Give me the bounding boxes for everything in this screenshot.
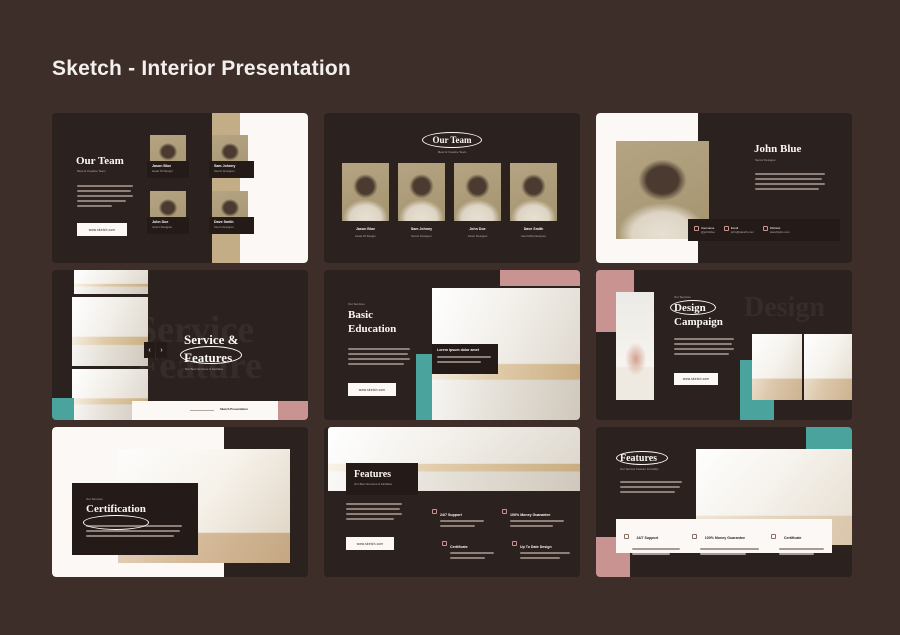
wallet-icon [502,509,507,514]
presentation-preview-board: Sketch - Interior Presentation Our Team … [0,0,900,635]
footer-note: Sketch Presentation [220,407,248,411]
member-role: Intern Designer [214,225,254,229]
member-name: Sam Johnny [214,164,254,168]
ghost-text: Design [744,292,825,324]
member-role: Junior Designer [454,234,501,238]
body-text [755,173,825,193]
user-icon [694,226,699,231]
feature-item[interactable]: Certificate [771,526,824,546]
member-label-card: Dave Smith Intern Designer [209,217,254,234]
member-name: Dave Smith [506,227,561,231]
body-text [346,503,402,523]
overlay-card: Lorem ipsum dolor amet [432,344,498,374]
member-role: Junior Designer [152,225,189,229]
member-name: Jason Blue [152,164,189,168]
member-label-card: Sam Johnny Senior Designer [209,161,254,178]
title-ellipse [422,132,482,148]
slide-photo [752,334,802,400]
member-name: Jason Blue [342,227,389,231]
slide-our-team-centered[interactable]: Our Team Meet & Creative Team Jason Blue… [324,113,580,263]
slide-certification[interactable]: Our Services Certification [52,427,308,577]
slide-subtitle: Meet & Creative Team [77,169,106,173]
slide-subtitle: Our Best Services & Facilities [185,367,223,371]
mail-icon [724,226,729,231]
title-ellipse [670,300,716,315]
feature-item[interactable]: 24/7 Support [624,526,680,546]
badge-icon [771,534,776,539]
contact-item[interactable]: Website sketchjobs.com [763,226,790,234]
feature-title: 100% Money Guarantee [705,536,745,540]
badge-icon [442,541,447,546]
contact-value: john@sketch.com [731,230,754,234]
website-button[interactable]: www.sketch.com [77,223,127,236]
slide-title-line1: Basic [348,309,373,321]
feature-title: Certificate [450,545,494,549]
body-text [77,185,133,210]
body-text [348,348,410,368]
slide-subtitle: Meet & Creative Team [324,150,580,154]
headset-icon [624,534,629,539]
slide-title: Certification [86,503,198,515]
gallery-main[interactable] [72,297,148,366]
footer-rule [190,410,214,411]
feature-item[interactable]: Certificate [442,533,494,562]
feature-body [510,520,564,530]
slide-eyebrow: Our Services [348,302,365,306]
slide-title: Features [354,469,418,480]
member-role: Internship Designer [506,234,561,238]
globe-icon [763,226,768,231]
feature-body [450,552,494,562]
member-role: Head Of Design [342,234,389,238]
carousel-prev-button[interactable]: ‹ [144,342,155,358]
page-title: Sketch - Interior Presentation [52,57,351,81]
slide-our-team-dark[interactable]: Our Team Meet & Creative Team www.sketch… [52,113,308,263]
body-text [620,481,682,496]
member-name: Sam Johnny [398,227,445,231]
footer-bar: Sketch Presentation [132,401,278,420]
title-card: Features Our Best Services & Facilities [346,463,418,495]
member-name: John Doe [152,220,189,224]
member-photo [510,163,557,221]
contact-item[interactable]: Email john@sketch.com [724,226,754,234]
carousel-next-button[interactable]: › [156,342,167,358]
wallet-icon [692,534,697,539]
website-button[interactable]: www.sketch.com [346,537,394,550]
feature-title: Up To Date Design [520,545,570,549]
slide-design-campaign[interactable]: Design Our Services Design Campaign www.… [596,270,852,420]
teal-accent [416,354,432,420]
feature-item[interactable]: Up To Date Design [512,533,570,562]
member-photo [454,163,501,221]
slide-subtitle: Senior Designer [755,158,776,162]
website-button[interactable]: www.sketch.com [348,383,396,396]
slide-eyebrow: Our Services [86,497,198,501]
member-photo [342,163,389,221]
contact-bar: Username @johnblue Email john@sketch.com [688,219,840,241]
overlay-card: Our Services Certification [72,483,198,555]
headset-icon [432,509,437,514]
feature-item[interactable]: 100% Money Guarantee [502,501,564,530]
member-label-card: John Doe Junior Designer [147,217,189,234]
contact-value: sketchjobs.com [770,230,790,234]
slide-eyebrow: Our Services [674,295,691,299]
slide-title-line2: Education [348,323,396,335]
member-label-card: Jason Blue Head Of Design [147,161,189,178]
slide-photo [804,334,852,400]
pink-accent [278,401,308,420]
slide-subtitle: Our Service Feature & Facility [620,467,659,471]
slide-photo [616,292,654,400]
feature-title: 24/7 Support [440,513,484,517]
feature-title: Certificate [784,536,802,540]
title-ellipse [180,346,242,364]
teal-accent [52,398,74,420]
feature-body [520,552,570,562]
slide-features-bar[interactable]: Features Our Service Feature & Facility … [596,427,852,577]
member-name: Dave Smith [214,220,254,224]
website-button[interactable]: www.sketch.com [674,373,718,385]
member-photo [398,163,445,221]
slide-subtitle: Our Best Services & Facilities [354,482,418,486]
feature-title: 100% Money Guarantee [510,513,564,517]
member-name: John Doe [454,227,501,231]
member-role: Senior Designer [214,169,254,173]
card-title: Lorem ipsum dolor amet [437,348,498,352]
contact-value: @johnblue [701,230,715,234]
slide-title: John Blue [754,143,801,155]
pink-accent [500,270,580,286]
gallery-thumb[interactable] [74,270,148,294]
contact-item[interactable]: Username @johnblue [694,226,715,234]
feature-body [440,520,484,530]
layers-icon [512,541,517,546]
slide-title: Our Team [76,155,124,167]
slide-john-blue-profile[interactable]: John Blue Senior Designer Username @john… [596,113,852,263]
feature-title: 24/7 Support [636,536,658,540]
slide-basic-education[interactable]: Our Services Basic Education www.sketch.… [324,270,580,420]
feature-item[interactable]: 24/7 Support [432,501,484,530]
slide-title-line2: Campaign [674,316,723,328]
title-ellipse [616,451,668,465]
feature-bar: 24/7 Support 100% Money Guarantee Certif… [616,519,832,553]
slide-grid: Our Team Meet & Creative Team www.sketch… [52,113,852,577]
member-role: Senior Designer [398,234,445,238]
title-ellipse [83,515,149,530]
body-text [674,338,734,358]
feature-item[interactable]: 100% Money Guarantee [692,526,759,546]
card-body [437,356,491,366]
member-role: Head Of Design [152,169,189,173]
slide-features-grid[interactable]: Features Our Best Services & Facilities … [324,427,580,577]
slide-service-features[interactable]: Service Feature ‹ › Service & Features O… [52,270,308,420]
